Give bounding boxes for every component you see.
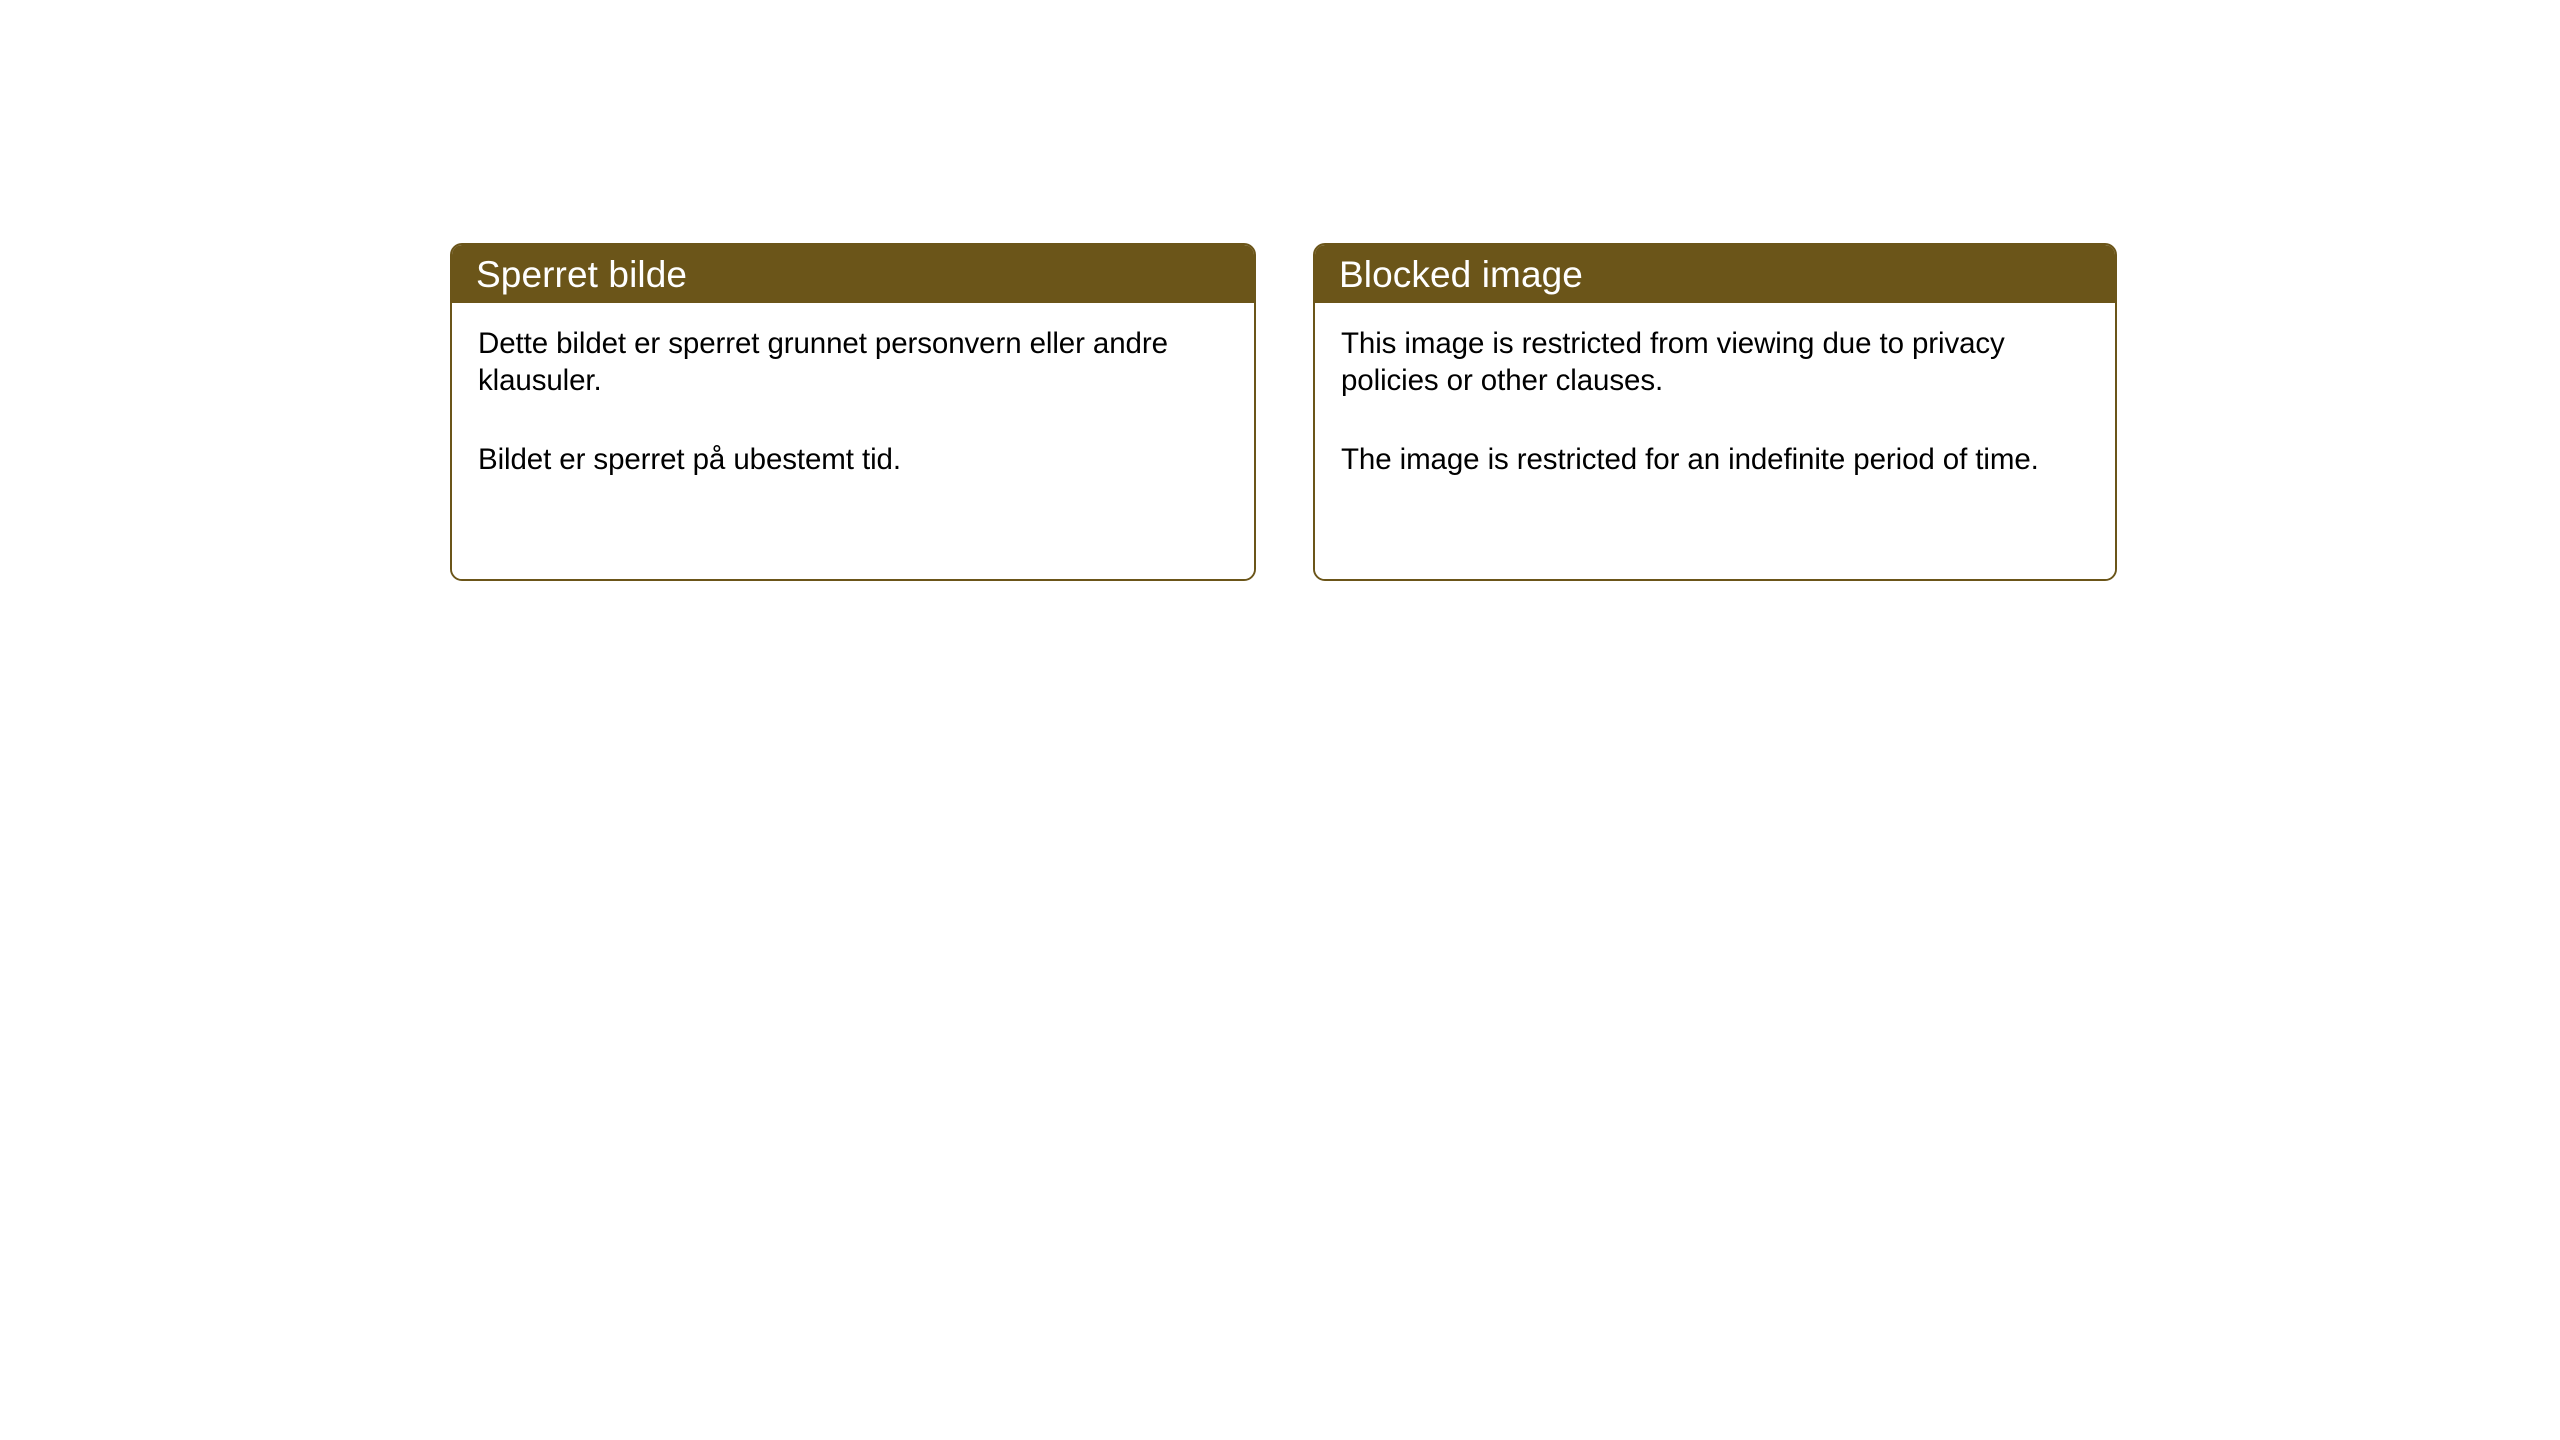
notice-title-en: Blocked image [1339,256,1583,293]
blocked-image-notice-no: Sperret bilde Dette bildet er sperret gr… [450,243,1256,581]
notice-paragraph-secondary-no: Bildet er sperret på ubestemt tid. [478,441,1228,478]
blocked-image-notice-en: Blocked image This image is restricted f… [1313,243,2117,581]
notice-paragraph-secondary-en: The image is restricted for an indefinit… [1341,441,2089,478]
notice-header-en: Blocked image [1315,245,2115,303]
notice-paragraph-primary-no: Dette bildet er sperret grunnet personve… [478,325,1228,399]
notice-body-no: Dette bildet er sperret grunnet personve… [452,303,1254,579]
page-canvas: Sperret bilde Dette bildet er sperret gr… [0,0,2560,1440]
notice-paragraph-primary-en: This image is restricted from viewing du… [1341,325,2089,399]
notice-title-no: Sperret bilde [476,256,687,293]
notice-body-en: This image is restricted from viewing du… [1315,303,2115,579]
notice-header-no: Sperret bilde [452,245,1254,303]
